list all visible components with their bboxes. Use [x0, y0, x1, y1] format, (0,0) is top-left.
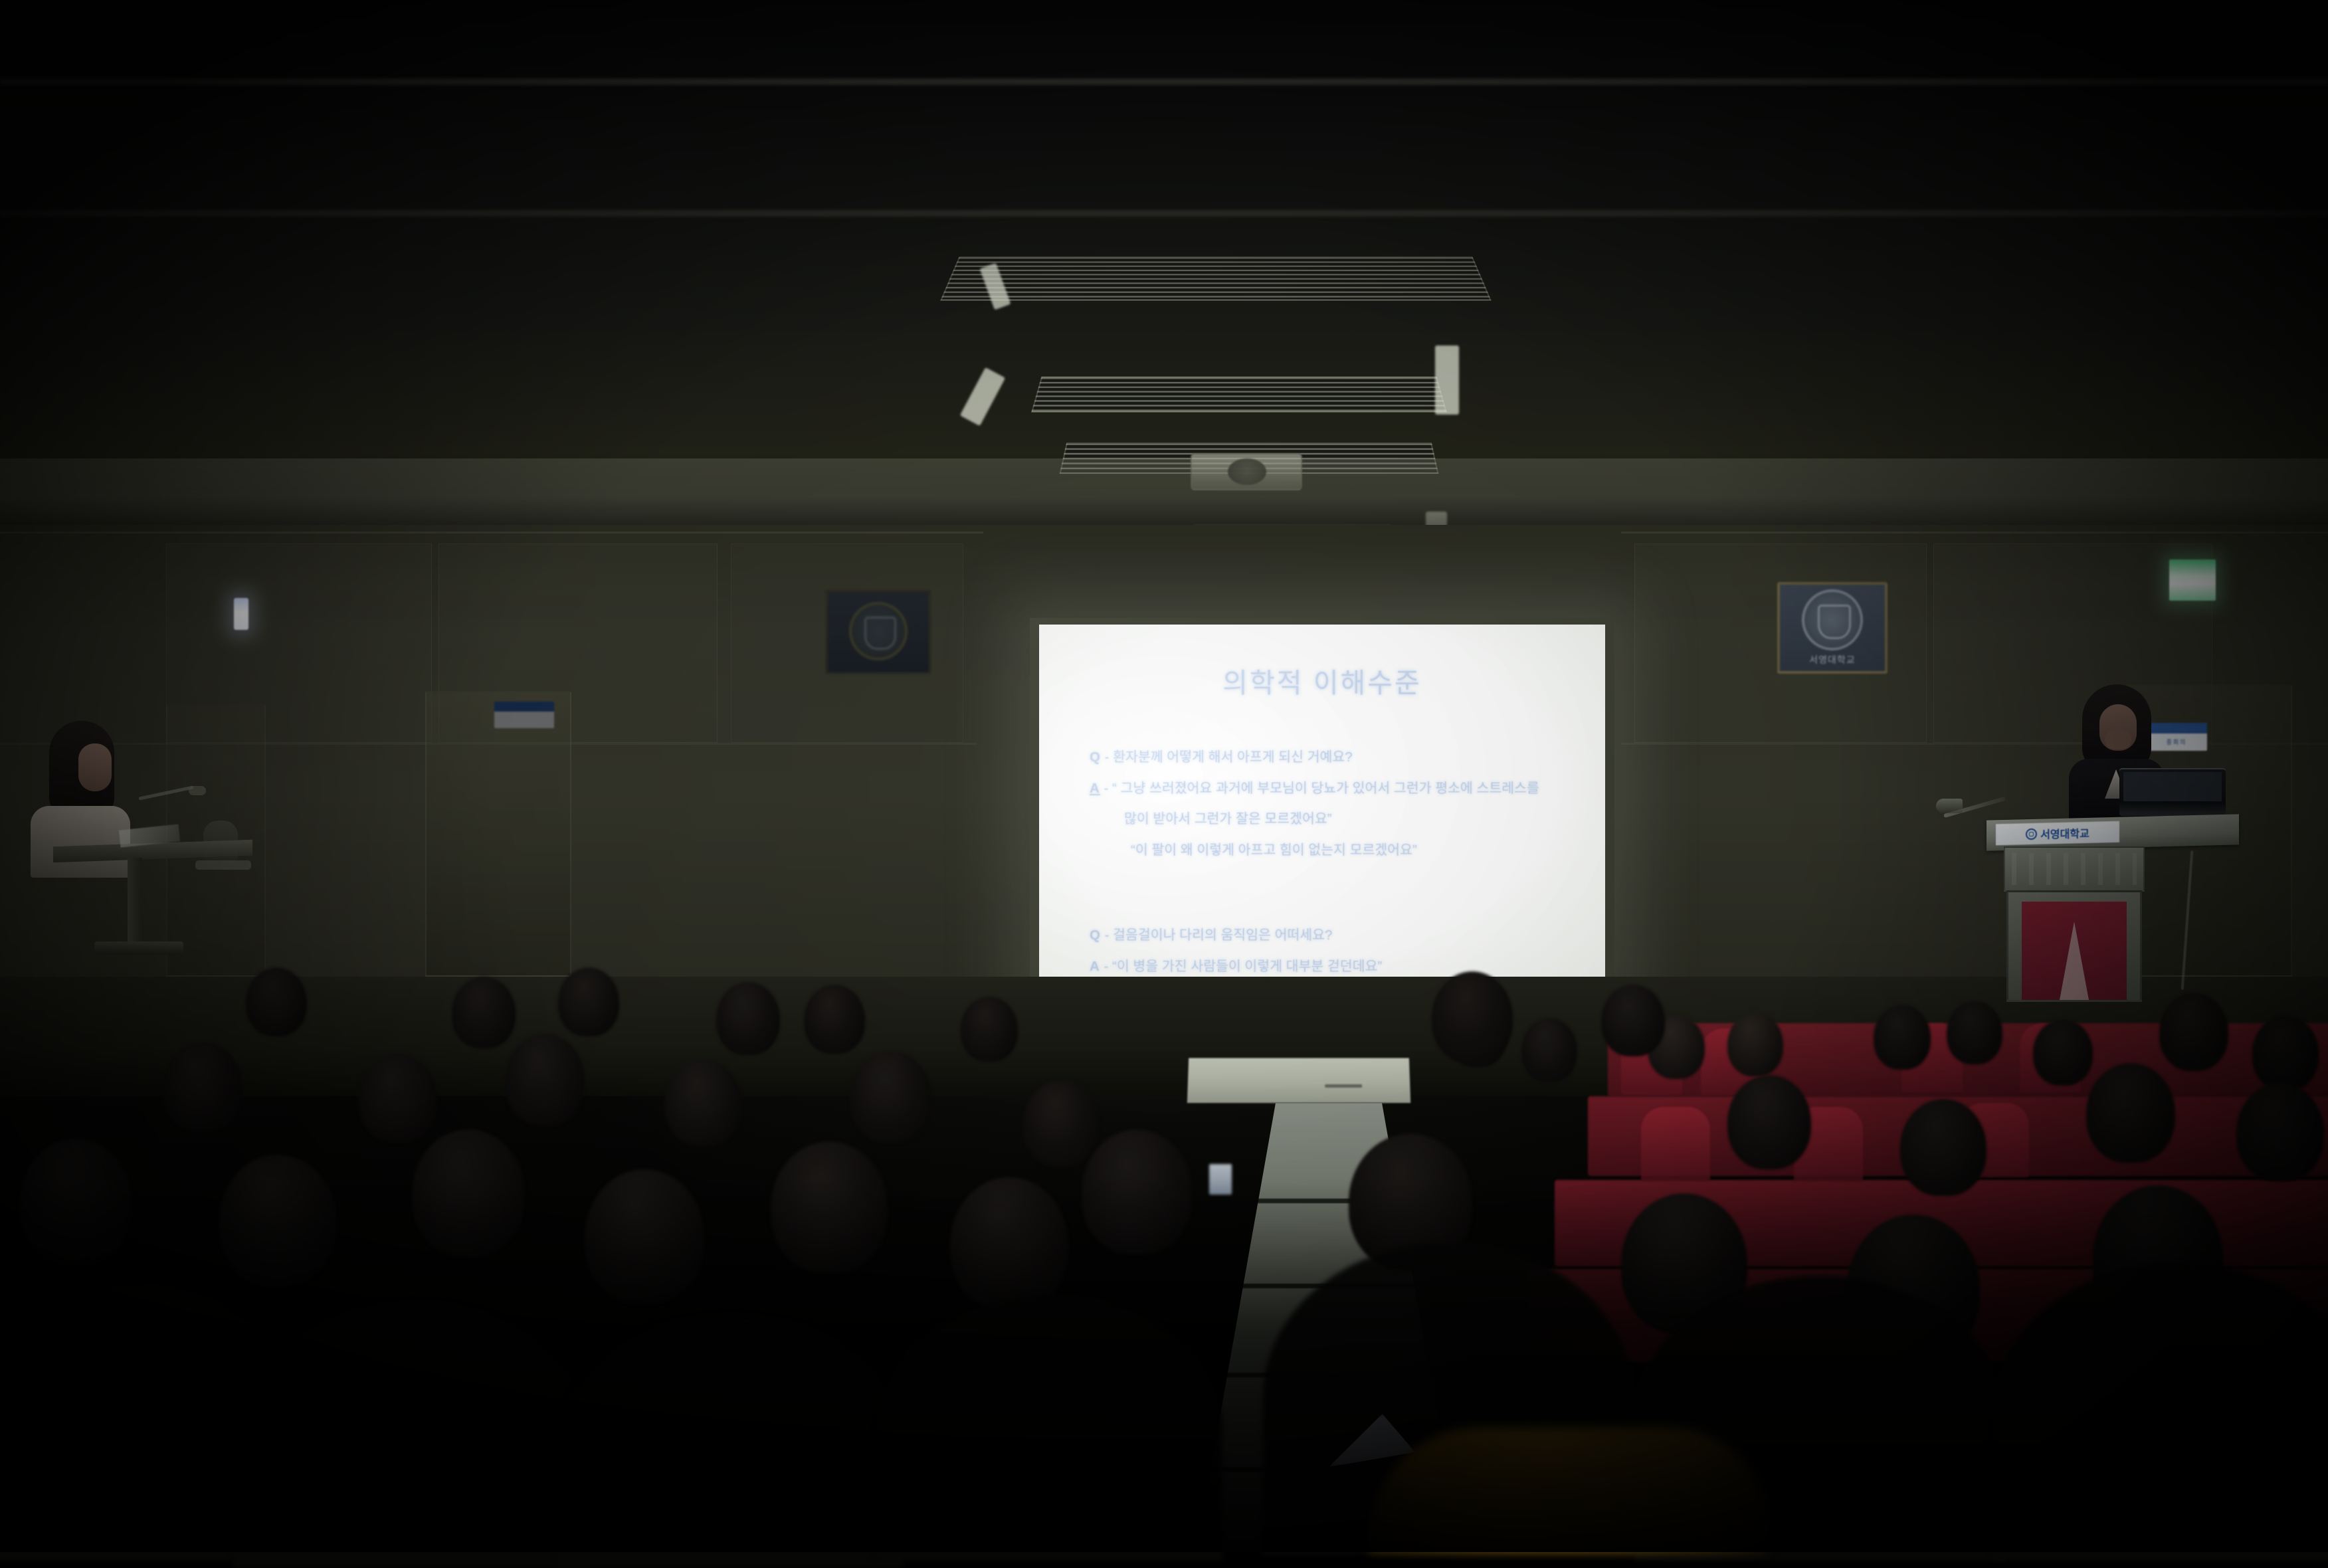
- presenter-body: [31, 806, 130, 878]
- slide-line: Q - 걸음걸이나 다리의 움직임은 어떠세요?: [1090, 929, 1589, 943]
- wall-lamp-icon: [234, 598, 248, 630]
- audience-head: [20, 1139, 132, 1265]
- ceiling-air-grille: [940, 256, 1491, 300]
- slide-qa-marker: Q: [1090, 928, 1101, 943]
- audience-head: [1432, 971, 1513, 1063]
- audience-head: [558, 967, 619, 1036]
- audience-head: [716, 982, 780, 1055]
- wall-plaque-left: [825, 590, 931, 675]
- audience-head: [804, 985, 865, 1054]
- audience-head: [961, 997, 1018, 1062]
- slide-line: A - “ 그냥 쓰러졌어요 과거에 부모님이 당뇨가 있어서 그런가 평소에 …: [1090, 782, 1589, 796]
- podium: 서영대학교: [1987, 817, 2239, 1003]
- audience-head: [2033, 1019, 2093, 1086]
- audience-head: [585, 1169, 704, 1304]
- slide-line: Q - 환자분께 어떻게 해서 아프게 되신 거예요?: [1090, 751, 1589, 765]
- stage-table: [1187, 1058, 1410, 1103]
- audience-head: [2159, 993, 2228, 1071]
- audience-silhouette: [877, 1296, 1222, 1561]
- podium-midband: [2004, 846, 2145, 892]
- slide-line: A - “이 병을 가진 사람들이 이렇게 대부분 걷던데요”: [1090, 960, 1589, 974]
- podium-nameplate-label: 서영대학교: [2040, 825, 2089, 842]
- audience-head: [163, 1042, 242, 1132]
- slide-line: 많이 받아서 그런가 잘은 모르겠어요”: [1090, 813, 1589, 827]
- audience-amber-coat: [1369, 1427, 1767, 1553]
- presenter-face: [78, 743, 112, 791]
- lectern-base: [94, 941, 183, 955]
- slide-line: “이 팔이 왜 이렇게 아프고 힘이 없는지 모르겠어요”: [1090, 844, 1589, 858]
- wall-plaque-right: 서영대학교: [1777, 582, 1888, 674]
- wall-plaque-right-label: 서영대학교: [1809, 653, 1855, 666]
- audience-head: [1947, 1001, 2002, 1064]
- podium-body: [2006, 890, 2142, 1002]
- projection-screen: 의학적 이해수준 Q - 환자분께 어떻게 해서 아프게 되신 거예요?A - …: [1030, 618, 1614, 1010]
- audience-head: [1082, 1129, 1192, 1254]
- phone-screen-glow: [1209, 1164, 1232, 1195]
- university-seal-icon: [2026, 828, 2037, 839]
- side-door-left[interactable]: [425, 691, 571, 977]
- door-plate-label: [494, 712, 554, 728]
- presenter-hand: [2105, 730, 2131, 749]
- audience-head: [1900, 1099, 1987, 1196]
- lectern: [53, 794, 272, 993]
- audience-head: [452, 977, 516, 1048]
- wall-trim: [0, 532, 983, 534]
- projected-slide: 의학적 이해수준 Q - 환자분께 어떻게 해서 아프게 되신 거예요?A - …: [1039, 625, 1605, 995]
- door-plate-left: [494, 702, 554, 728]
- audience-head: [2252, 1015, 2319, 1091]
- slide-body: Q - 환자분께 어떻게 해서 아프게 되신 거예요?A - “ 그냥 쓰러졌어…: [1090, 751, 1589, 991]
- podium-cable: [2181, 850, 2194, 990]
- audience-silhouette: [558, 1316, 904, 1568]
- ceiling-beam: [0, 78, 2328, 85]
- audience-head: [219, 1155, 336, 1286]
- lectern-column: [128, 858, 142, 944]
- podium-red-panel: [2022, 902, 2127, 1000]
- audience-head: [850, 1051, 931, 1143]
- exit-running-man-icon: [2169, 559, 2216, 601]
- audience-head: [1601, 985, 1665, 1056]
- audience-head: [246, 967, 307, 1036]
- audience-head: [950, 1177, 1068, 1310]
- audience-head: [359, 1054, 437, 1143]
- university-emblem-icon: [1802, 589, 1863, 650]
- slide-title: 의학적 이해수준: [1039, 660, 1605, 700]
- podium-top: 서영대학교: [1987, 814, 2239, 850]
- wall-trim: [1621, 532, 2328, 534]
- ceiling-air-grille: [1031, 377, 1447, 413]
- audience-head: [2086, 1063, 2175, 1163]
- auditorium-seat: [1641, 1107, 1710, 1181]
- audience-head: [1727, 1075, 1811, 1169]
- audience-silhouette: [233, 1302, 591, 1568]
- ceiling-soffit: [0, 458, 2328, 528]
- auditorium-room: 중회의 서영대학교 의학적 이해수준 Q - 환자분께 어떻게 해서 아프게 되…: [0, 0, 2328, 1552]
- lectern-tray: [195, 860, 251, 870]
- audience-head: [664, 1059, 741, 1147]
- podium-nameplate: 서영대학교: [1996, 821, 2119, 846]
- audience-head: [412, 1129, 525, 1257]
- microphone-head-icon: [189, 786, 206, 795]
- water-jug-icon: [203, 821, 238, 862]
- slide-qa-marker: Q: [1090, 749, 1101, 765]
- audience-head: [1874, 1005, 1931, 1070]
- audience-head: [1727, 1013, 1783, 1076]
- audience-head: [1023, 1080, 1099, 1167]
- audience-head: [505, 1034, 585, 1126]
- door-plate-band: [494, 702, 554, 712]
- ceiling-light-tube: [1435, 345, 1459, 415]
- slide-qa-marker: A: [1090, 959, 1100, 974]
- ceiling-beam: [0, 210, 2328, 217]
- laptop-icon[interactable]: [2119, 768, 2226, 816]
- slide-qa-marker: A: [1090, 781, 1100, 796]
- audience-head: [771, 1141, 888, 1273]
- university-emblem-icon: [849, 602, 908, 660]
- microphone-head-icon: [1936, 799, 1963, 813]
- audience-head: [2236, 1083, 2324, 1181]
- audience-head: [1521, 1018, 1577, 1082]
